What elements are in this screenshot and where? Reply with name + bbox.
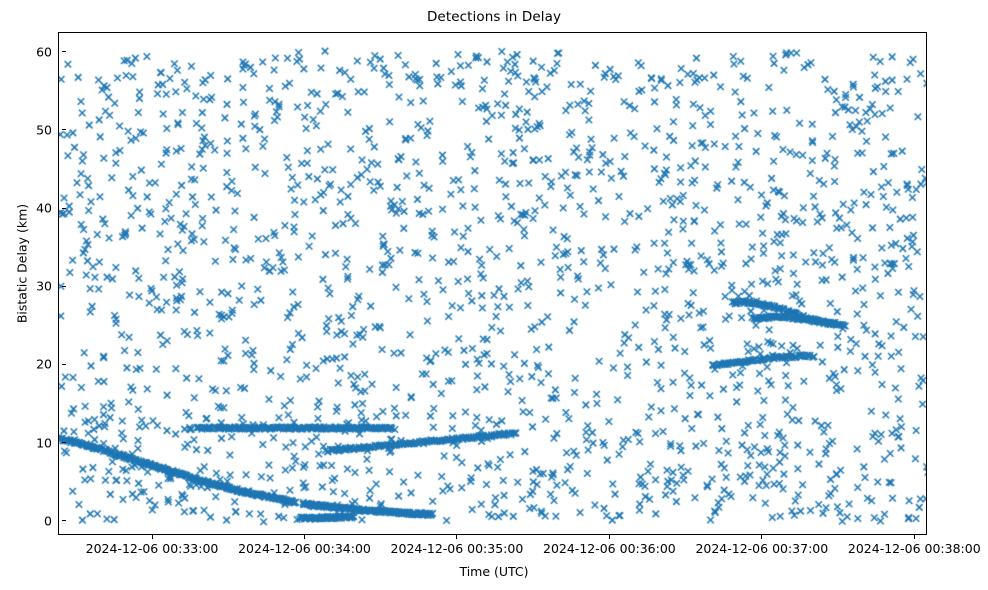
x-tick-mark — [456, 535, 457, 539]
x-tick-label: 2024-12-06 00:36:00 — [543, 541, 676, 556]
x-tick-mark — [609, 535, 610, 539]
x-tick-mark — [761, 535, 762, 539]
x-tick-mark — [914, 535, 915, 539]
x-tick-label: 2024-12-06 00:38:00 — [848, 541, 981, 556]
chart-figure: Detections in Delay 0102030405060 2024-1… — [0, 0, 988, 590]
x-tick-mark — [152, 535, 153, 539]
y-axis-label: Bistatic Delay (km) — [15, 114, 30, 414]
x-tick-label: 2024-12-06 00:37:00 — [695, 541, 828, 556]
x-tick-mark — [304, 535, 305, 539]
x-tick-label: 2024-12-06 00:33:00 — [86, 541, 219, 556]
x-tick-label: 2024-12-06 00:35:00 — [391, 541, 524, 556]
x-tick-label: 2024-12-06 00:34:00 — [238, 541, 371, 556]
x-axis-ticks: 2024-12-06 00:33:002024-12-06 00:34:0020… — [0, 0, 988, 590]
x-axis-label: Time (UTC) — [0, 564, 988, 579]
